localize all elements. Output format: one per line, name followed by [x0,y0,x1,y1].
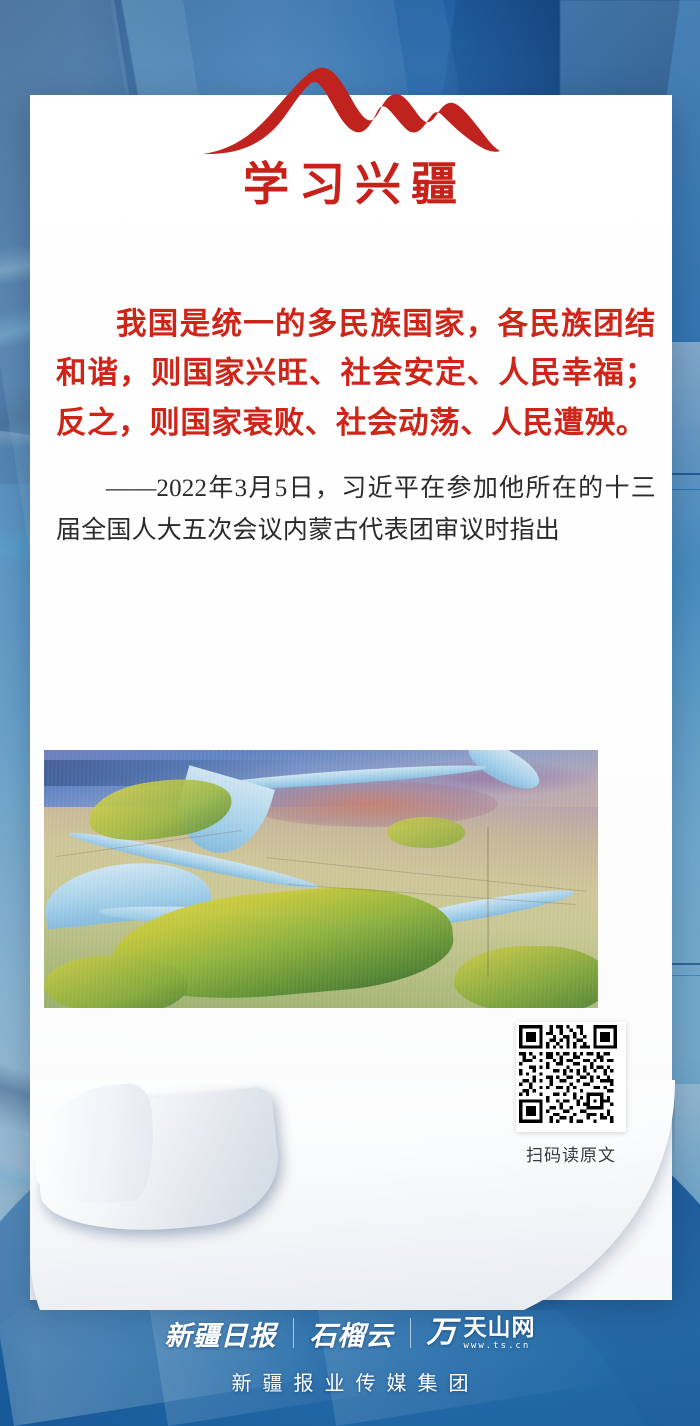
tianshan-text: 天山网 www.ts.cn [464,1316,536,1351]
logo-tianshannet: 万 天山网 www.ts.cn [411,1316,552,1351]
quote-attribution: ——2022年3月5日，习近平在参加他所在的十三届全国人大五次会议内蒙古代表团审… [56,468,656,551]
tianshan-mark-icon: 万 [427,1318,458,1348]
brand-logo: 学习兴疆 [0,58,700,211]
photo-texture [44,750,598,1008]
logo-xinjiang-daily: 新疆日报 [149,1314,293,1353]
poster-root: 学习兴疆 我国是统一的多民族国家，各民族团结和谐，则国家兴旺、社会安定、人民幸福… [0,0,700,1426]
logo-wordmark: 学习兴疆 [0,160,700,211]
qr-block[interactable]: 扫码读原文 [516,1022,626,1166]
qr-caption: 扫码读原文 [516,1141,626,1166]
tianshan-url: www.ts.cn [464,1342,531,1351]
mountain-range-icon [195,58,505,166]
photo-canvas [44,750,598,1008]
landscape-photo [44,750,598,1008]
qr-code-matrix [519,1025,617,1123]
footer-group-name: 新疆报业传媒集团 [0,1367,700,1396]
tianshan-name: 天山网 [464,1316,536,1339]
footer-logo-row: 新疆日报 石榴云 万 天山网 www.ts.cn [0,1310,700,1356]
footer: 新疆日报 石榴云 万 天山网 www.ts.cn 新疆报业传媒集团 [0,1310,700,1396]
qr-code-icon[interactable] [516,1022,626,1132]
quote-text: 我国是统一的多民族国家，各民族团结和谐，则国家兴旺、社会安定、人民幸福；反之，则… [56,300,656,448]
logo-shiliuyun: 石榴云 [294,1314,410,1353]
